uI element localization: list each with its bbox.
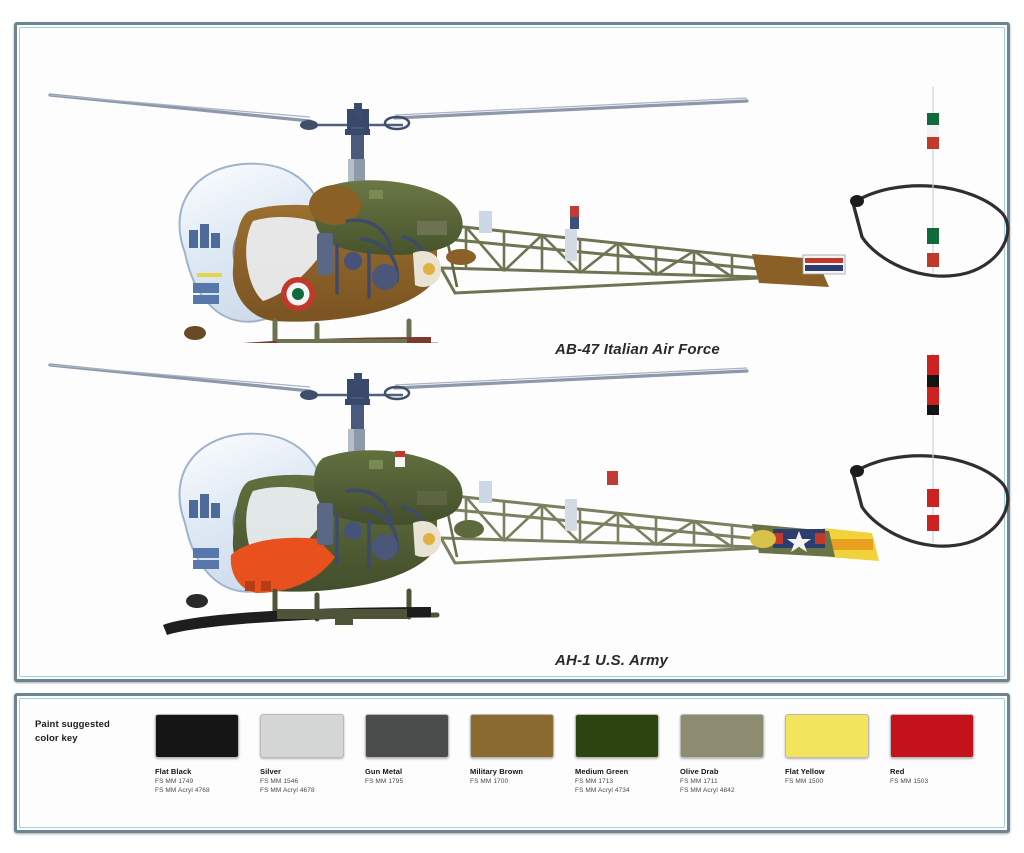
color-code: FS MM 1503 [890,778,928,785]
paint-swatch: Red FS MM 1503 [890,714,995,794]
color-chip [680,714,764,758]
paint-swatch: Gun Metal FS MM 1795 [365,714,470,794]
color-chip [365,714,449,758]
ah1-illustration [17,343,1011,643]
color-name: Medium Green [575,767,628,776]
paint-key-title: Paint suggested color key [35,714,155,746]
profiles-panel: AB-47 Italian Air Force [14,22,1010,682]
color-chip [155,714,239,758]
color-code: FS MM 1700 [470,778,508,785]
color-name: Military Brown [470,767,523,776]
color-name: Gun Metal [365,767,402,776]
color-code: FS MM 1749 [155,778,193,785]
color-code: FS MM Acryl 4734 [575,787,630,794]
color-chip [470,714,554,758]
color-chip [260,714,344,758]
paint-swatch: Flat Black FS MM 1749 FS MM Acryl 4768 [155,714,260,794]
color-name: Flat Black [155,767,191,776]
color-name: Silver [260,767,281,776]
color-code: FS MM Acryl 4768 [155,787,210,794]
helicopter-profile-ah1 [17,343,1007,643]
color-code: FS MM 1500 [785,778,823,785]
ab47-illustration [17,25,1011,343]
instruction-sheet: AB-47 Italian Air Force [0,0,1024,853]
color-name: Red [890,767,904,776]
paint-swatch: Olive Drab FS MM 1711 FS MM Acryl 4842 [680,714,785,794]
color-code: FS MM 1711 [680,778,718,785]
paint-swatch: Flat Yellow FS MM 1500 [785,714,890,794]
paint-swatch: Military Brown FS MM 1700 [470,714,575,794]
color-chip [890,714,974,758]
color-code: FS MM Acryl 4678 [260,787,315,794]
color-code: FS MM 1713 [575,778,613,785]
color-code: FS MM 1795 [365,778,403,785]
color-name: Olive Drab [680,767,719,776]
helicopter-profile-ab47 [17,25,1007,343]
color-chip [785,714,869,758]
paint-key-title-line-1: Paint suggested [35,718,155,732]
paint-key-title-line-2: color key [35,732,155,746]
color-code: FS MM 1546 [260,778,298,785]
paint-swatch: Medium Green FS MM 1713 FS MM Acryl 4734 [575,714,680,794]
caption-ah1: AH-1 U.S. Army [555,652,668,669]
paint-swatch: Silver FS MM 1546 FS MM Acryl 4678 [260,714,365,794]
color-code: FS MM Acryl 4842 [680,787,735,794]
paint-swatch-list: Flat Black FS MM 1749 FS MM Acryl 4768 S… [155,714,995,794]
color-chip [575,714,659,758]
color-name: Flat Yellow [785,767,825,776]
paint-key-panel: Paint suggested color key Flat Black FS … [14,693,1010,833]
